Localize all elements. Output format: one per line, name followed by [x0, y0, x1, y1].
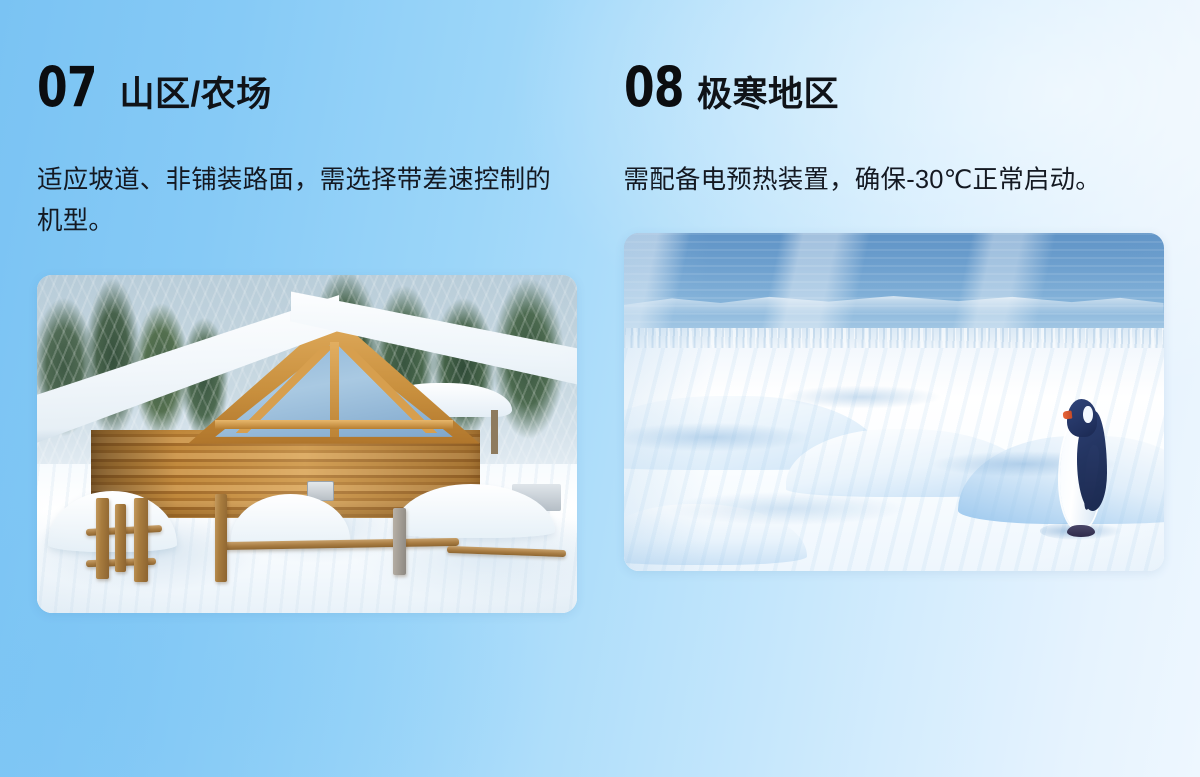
- section-heading-07: 07 山区/农场: [37, 0, 577, 120]
- feature-section-08: 08 极寒地区 需配备电预热装置，确保-30℃正常启动。: [624, 0, 1164, 777]
- section-description-08: 需配备电预热装置，确保-30℃正常启动。: [624, 160, 1164, 201]
- ice-photo-vignette: [624, 233, 1164, 571]
- feature-sections-board: 07 山区/农场 适应坡道、非铺装路面，需选择带差速控制的机型。: [0, 0, 1200, 777]
- section-number-07: 07: [37, 60, 97, 115]
- section-title-08: 极寒地区: [697, 77, 839, 112]
- section-description-07: 适应坡道、非铺装路面，需选择带差速控制的机型。: [37, 160, 577, 243]
- feature-section-07: 07 山区/农场 适应坡道、非铺装路面，需选择带差速控制的机型。: [37, 0, 577, 777]
- cabin-photo-vignette: [37, 275, 577, 613]
- photo-card-extreme-cold: [624, 233, 1164, 571]
- photo-card-mountain-farm: [37, 275, 577, 613]
- section-number-08: 08: [624, 60, 684, 115]
- photo-snowy-log-cabin: [37, 275, 577, 613]
- section-title-07: 山区/农场: [120, 77, 272, 112]
- section-heading-08: 08 极寒地区: [624, 0, 1164, 120]
- photo-antarctic-ice-field: [624, 233, 1164, 571]
